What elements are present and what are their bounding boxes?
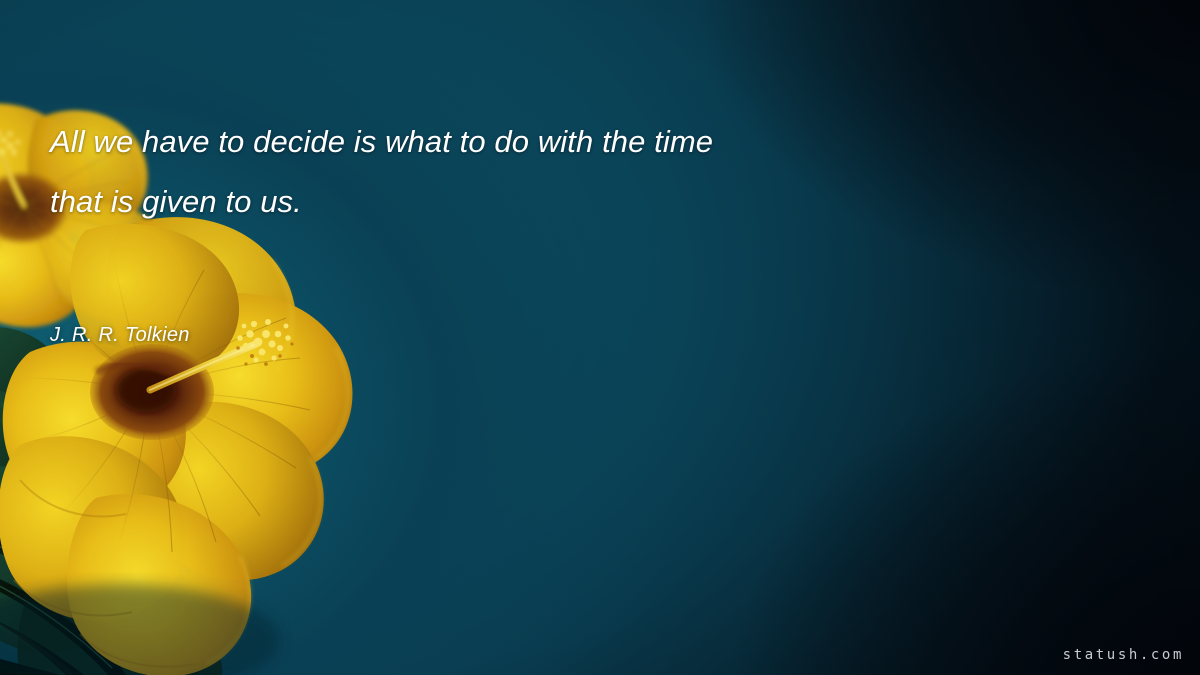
site-watermark: statush.com <box>1063 647 1184 663</box>
quote-text: All we have to decide is what to do with… <box>50 112 930 232</box>
quote-line-1: All we have to decide is what to do with… <box>50 112 930 172</box>
quote-line-2: that is given to us. <box>50 172 930 232</box>
quote-image-canvas: All we have to decide is what to do with… <box>0 0 1200 675</box>
author-attribution: J. R. R. Tolkien <box>50 324 190 347</box>
